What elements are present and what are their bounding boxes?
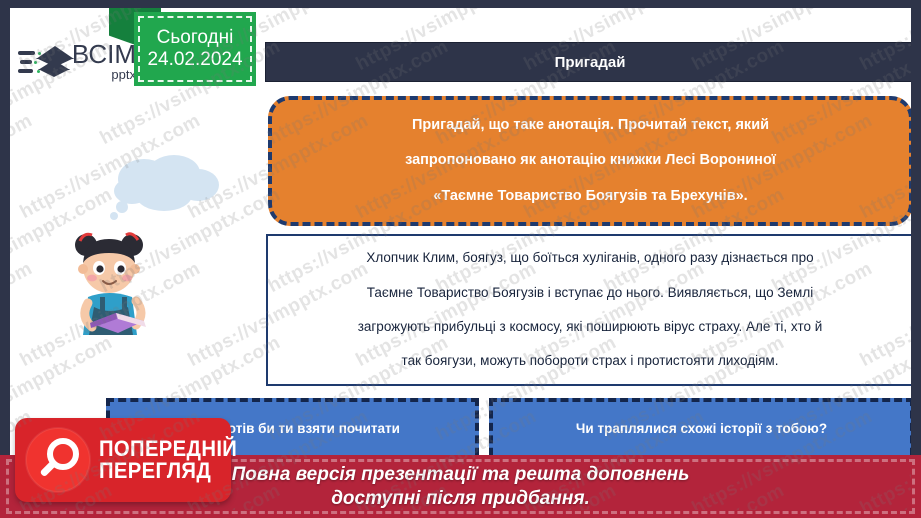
annotation-line: Таємне Товариство Боягузів і вступає до … <box>367 276 813 310</box>
instruction-line: «Таємне Товариство Боягузів та Брехунів»… <box>433 179 747 215</box>
slide-title-bar: Пригадай <box>265 42 911 82</box>
brand-logo: ВСІМ pptx <box>18 34 136 88</box>
watermark-text: https://vsimpptx.com <box>10 258 36 372</box>
date-tag: Сьогодні 24.02.2024 <box>134 12 256 86</box>
banner-line: доступні після придбання. <box>331 487 590 510</box>
question-line: Чи траплялися схожі історії з тобою? <box>576 412 827 445</box>
slide-root: ВСІМ pptx Сьогодні 24.02.2024 Пригадай П… <box>0 0 921 518</box>
thought-bubble <box>102 153 224 225</box>
date-tag-value: 24.02.2024 <box>147 49 242 71</box>
girl-reading-illustration <box>60 223 170 353</box>
graduation-cap-icon <box>18 41 68 81</box>
magnifier-icon <box>25 427 91 493</box>
page-title: Пригадай <box>555 54 626 71</box>
banner-line: Повна версія презентації та решта доповн… <box>232 463 690 486</box>
annotation-line: Хлопчик Клим, боягуз, що боїться хуліган… <box>366 241 813 275</box>
annotation-line: так боягузи, можуть побороти страх і про… <box>402 344 779 378</box>
preview-badge: ПОПЕРЕДНІЙ ПЕРЕГЛЯД <box>15 418 231 502</box>
badge-line-2: ПЕРЕГЛЯД <box>99 460 237 482</box>
annotation-text-box: Хлопчик Клим, боягуз, що боїться хуліган… <box>266 234 911 386</box>
annotation-line: загрожують прибульці з космосу, які поши… <box>358 310 823 344</box>
badge-line-1: ПОПЕРЕДНІЙ <box>99 438 237 460</box>
instruction-line: Пригадай, що таке анотація. Прочитай тек… <box>412 108 769 144</box>
instruction-callout: Пригадай, що таке анотація. Прочитай тек… <box>268 96 911 226</box>
logo-subtext: pptx <box>72 68 136 81</box>
logo-wordmark: ВСІМ <box>72 41 136 67</box>
instruction-line: запропоновано як анотацію книжки Лесі Во… <box>405 143 776 179</box>
date-tag-label: Сьогодні <box>157 27 234 49</box>
watermark-text: https://vsimpptx.com <box>10 110 36 224</box>
